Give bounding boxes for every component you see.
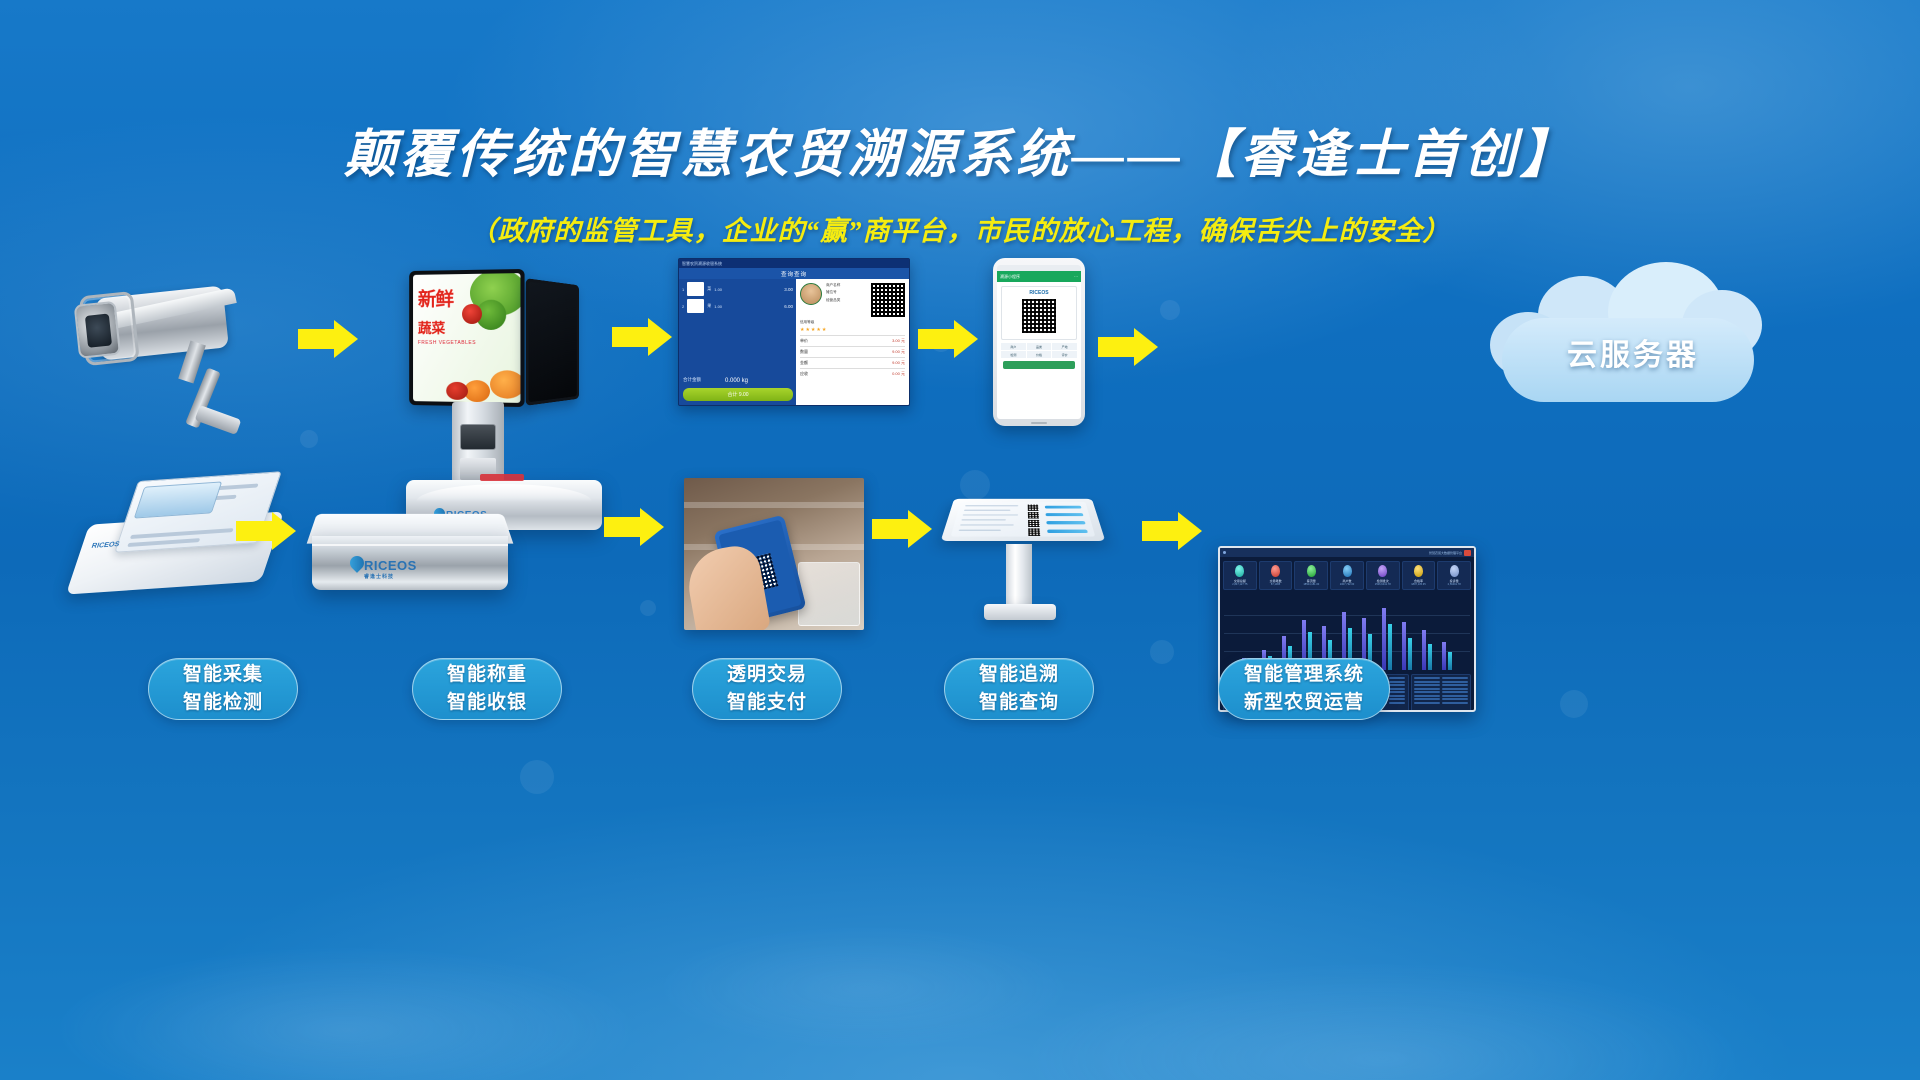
stage-label-line2: 智能收银: [447, 689, 527, 717]
trace-price-label: 金额: [800, 360, 808, 366]
pos-ad-title: 新鲜: [418, 290, 453, 309]
kpi-value: 1007,732.00: [1332, 583, 1362, 586]
device-smartphone[interactable]: 溯源小程序 ··· RICEOS 商户 品类 产地 检测 价格 评价: [993, 258, 1085, 426]
scale-host-seam: [312, 544, 508, 546]
trace-item-qty: 1.00: [714, 287, 722, 292]
trace-price-row: 数量 9.00 元: [800, 346, 905, 355]
kiosk-head: [941, 499, 1106, 541]
phone-grid-cell[interactable]: 检测: [1001, 351, 1026, 358]
stage-label-collect-detect[interactable]: 智能采集 智能检测: [148, 658, 298, 720]
phone-brand-label: RICEOS: [1005, 290, 1073, 296]
flow-arrow: [918, 320, 980, 358]
page-subtitle: （政府的监管工具，企业的“赢”商平台，市民的放心工程，确保舌尖上的安全）: [0, 209, 1920, 248]
kpi-value: 2,847,127.75: [1225, 583, 1255, 586]
kpi-value: 2,56491.78: [1439, 583, 1469, 586]
stage-label-trace-query[interactable]: 智能追溯 智能查询: [944, 658, 1094, 720]
screen-cashier-traceability[interactable]: 智慧农贸溯源收银系统 查询查询 1 菜 1.00 3.00 2 果 1.00 6…: [678, 258, 910, 406]
pos-customer-screen[interactable]: [526, 278, 579, 406]
title-block: 颠覆传统的智慧农贸溯源系统——【睿逢士首创】 （政府的监管工具，企业的“赢”商平…: [0, 112, 1920, 248]
dashboard-kpi-row: 交易总额 2,847,127.75 交易笔数 87,1065 客流量 18524…: [1220, 557, 1474, 594]
close-icon[interactable]: [1464, 550, 1471, 556]
kpi-card[interactable]: 投诉量 2,56491.78: [1437, 561, 1471, 590]
kpi-card[interactable]: 合格率 1807,135.35: [1402, 561, 1436, 590]
stage-label-transparent-pay[interactable]: 透明交易 智能支付: [692, 658, 842, 720]
stage-label-line1: 透明交易: [727, 661, 807, 689]
stage-label-line2: 新型农贸运营: [1244, 689, 1364, 717]
trace-vendor-field: 摊位号: [826, 290, 867, 295]
trace-field-label: 摊位号: [826, 290, 837, 294]
phone-grid-cell[interactable]: 评价: [1052, 351, 1077, 358]
phone-info-grid: 商户 品类 产地 检测 价格 评价: [1001, 343, 1077, 358]
pos-card-slot[interactable]: [460, 424, 496, 450]
trace-item-thumb: [687, 282, 704, 296]
phone-grid-cell[interactable]: 价格: [1027, 351, 1052, 358]
kpi-card[interactable]: 交易总额 2,847,127.75: [1223, 561, 1257, 590]
trace-item-row[interactable]: 1 菜 1.00 3.00: [682, 282, 793, 296]
trace-item-amount: 3.00: [784, 287, 793, 292]
pos-ad-subtitle: FRESH VEGETABLES: [418, 340, 476, 346]
phone-grid-cell[interactable]: 产地: [1052, 343, 1077, 350]
kpi-card[interactable]: 客流量 18524,181.00: [1294, 561, 1328, 590]
cloud-server-label: 云服务器: [1468, 330, 1798, 374]
trace-price-value: 3.00 元: [892, 338, 905, 344]
trace-pay-button[interactable]: 合计 9.00: [683, 388, 793, 401]
stage-label-line1: 智能管理系统: [1244, 661, 1364, 689]
bubble: [520, 760, 554, 794]
trace-window-title: 智慧农贸溯源收银系统: [682, 261, 722, 267]
flow-arrow: [872, 510, 928, 548]
phone-screen[interactable]: 溯源小程序 ··· RICEOS 商户 品类 产地 检测 价格 评价: [997, 265, 1081, 419]
phone-home-indicator: [1031, 422, 1047, 424]
flow-arrow: [604, 508, 666, 546]
flow-arrow: [612, 318, 674, 356]
stage-label-line1: 智能称重: [447, 661, 527, 689]
trace-price-label: 应收: [800, 371, 808, 377]
trace-price-value: 9.00 元: [892, 349, 905, 355]
scale-host-brand-subtext: 睿逢士科技: [364, 573, 417, 580]
dashboard-table-panel: [1411, 674, 1472, 712]
kiosk-qr-icon: [1028, 520, 1040, 527]
kpi-value: 18524,181.00: [1296, 583, 1326, 586]
kpi-value: 1807,135.35: [1404, 583, 1434, 586]
phone-nav-title: 溯源小程序: [1000, 274, 1020, 280]
dashboard-window-title: 智慧农贸大数据管理平台: [1429, 551, 1462, 555]
stage-label-weigh-cashier[interactable]: 智能称重 智能收银: [412, 658, 562, 720]
bubble: [300, 430, 318, 448]
trace-vendor-field: 信用等级: [800, 320, 905, 325]
kiosk-qr-icon: [1028, 512, 1039, 519]
flow-arrow: [1142, 512, 1204, 550]
trace-field-label: 经营品类: [826, 298, 840, 302]
trace-item-name: 果: [707, 303, 711, 309]
page-title: 颠覆传统的智慧农贸溯源系统——【睿逢士首创】: [0, 112, 1920, 187]
phone-nav-bar: 溯源小程序 ···: [997, 271, 1081, 282]
device-scale-host: RICEOS 睿逢士科技: [312, 508, 512, 613]
bubble: [1160, 300, 1180, 320]
stage-label-line2: 智能支付: [727, 689, 807, 717]
camera-base: [195, 405, 242, 435]
trace-vendor-field: 商户名称: [826, 283, 867, 288]
scan-product: [798, 562, 860, 626]
trace-item-name: 菜: [707, 286, 711, 292]
trace-vendor-avatar: [800, 283, 822, 305]
phone-grid-cell[interactable]: 商户: [1001, 343, 1026, 350]
trace-item-no: 1: [682, 287, 684, 292]
pos-ad-image: 新鲜 蔬菜 FRESH VEGETABLES: [413, 273, 520, 403]
device-query-kiosk: [948, 478, 1098, 630]
flow-arrow: [236, 512, 298, 550]
kpi-card[interactable]: 检测批次 1536,6441.78: [1366, 561, 1400, 590]
phone-qr-code-icon: [1022, 299, 1056, 333]
pos-main-screen[interactable]: 新鲜 蔬菜 FRESH VEGETABLES: [409, 269, 524, 407]
photo-mobile-payment-scan: [684, 478, 864, 630]
trace-titlebar: 智慧农贸溯源收银系统: [679, 259, 909, 268]
kpi-card[interactable]: 商户数 1007,732.00: [1330, 561, 1364, 590]
trace-vendor-field: 经营品类: [826, 298, 867, 303]
bubble: [1150, 640, 1174, 664]
scale-host-brand-text: RICEOS: [364, 558, 417, 573]
pos-ad-title2: 蔬菜: [418, 318, 445, 338]
stage-label-line1: 智能采集: [183, 661, 263, 689]
trace-total-weight: 0.000 kg: [725, 378, 748, 384]
trace-price-row: 应收 0.00 元: [800, 368, 905, 377]
kpi-card[interactable]: 交易笔数 87,1065: [1259, 561, 1293, 590]
kiosk-screen[interactable]: [951, 502, 1096, 537]
trace-price-row: 金额 9.00 元: [800, 357, 905, 366]
trace-price-value: 0.00 元: [892, 371, 905, 377]
trace-field-label: 信用等级: [800, 320, 814, 324]
kpi-value: 1536,6441.78: [1368, 583, 1398, 586]
trace-item-list: 1 菜 1.00 3.00 2 果 1.00 6.00 合计金额 0.000 k…: [679, 279, 796, 406]
detector-test-strip: [134, 481, 223, 518]
kiosk-qr-icon: [1028, 505, 1039, 511]
stage-label-management-system[interactable]: 智能管理系统 新型农贸运营: [1218, 658, 1390, 720]
trace-field-label: 商户名称: [826, 283, 840, 287]
stage-label-line1: 智能追溯: [979, 661, 1059, 689]
trace-item-row[interactable]: 2 果 1.00 6.00: [682, 299, 793, 313]
camera-lens: [74, 301, 121, 359]
camera-body: [95, 285, 229, 360]
trace-price-row: 单价 3.00 元: [800, 335, 905, 344]
trace-price-label: 数量: [800, 349, 808, 355]
trace-price-value: 9.00 元: [892, 360, 905, 366]
bubble: [640, 600, 656, 616]
kpi-value: 87,1065: [1261, 583, 1291, 586]
flow-arrow: [1098, 328, 1160, 366]
stage-label-line2: 智能检测: [183, 689, 263, 717]
trace-credit-stars: ★★★★★: [800, 327, 905, 333]
trace-price-label: 单价: [800, 338, 808, 344]
kiosk-qr-icon: [1028, 528, 1040, 536]
pos-accent-stripe: [480, 474, 524, 481]
dashboard-titlebar: 智慧农贸大数据管理平台: [1220, 548, 1474, 557]
trace-item-thumb: [687, 299, 704, 313]
background-water-texture: [0, 660, 1920, 1080]
trace-total-label: 合计金额: [683, 377, 701, 383]
phone-detail-button[interactable]: [1003, 361, 1075, 369]
trace-item-qty: 1.00: [714, 304, 722, 309]
trace-item-no: 2: [682, 304, 684, 309]
flow-arrow: [298, 320, 360, 358]
scale-host-brand-label: RICEOS 睿逢士科技: [364, 558, 417, 580]
trace-item-amount: 6.00: [784, 304, 793, 309]
bubble: [1560, 690, 1588, 718]
trace-qr-code-icon: [871, 283, 905, 317]
device-camera: [88, 272, 288, 432]
device-pos-scale: 新鲜 蔬菜 FRESH VEGETABLES RICEOS 睿逢士科技: [400, 258, 630, 538]
trace-vendor-card: 商户名称 摊位号 经营品类 信用等级 ★★★★★ 单价 3.00 元: [796, 279, 909, 406]
kiosk-base: [984, 604, 1056, 620]
phone-grid-cell[interactable]: 品类: [1027, 343, 1052, 350]
phone-nav-more-icon[interactable]: ···: [1074, 274, 1078, 279]
stage-label-line2: 智能查询: [979, 689, 1059, 717]
phone-qr-card: RICEOS: [1001, 286, 1077, 340]
cloud-server-graphic: 云服务器: [1468, 260, 1798, 440]
kiosk-stand: [1006, 544, 1032, 610]
trace-section-bar: 查询查询: [679, 268, 909, 279]
